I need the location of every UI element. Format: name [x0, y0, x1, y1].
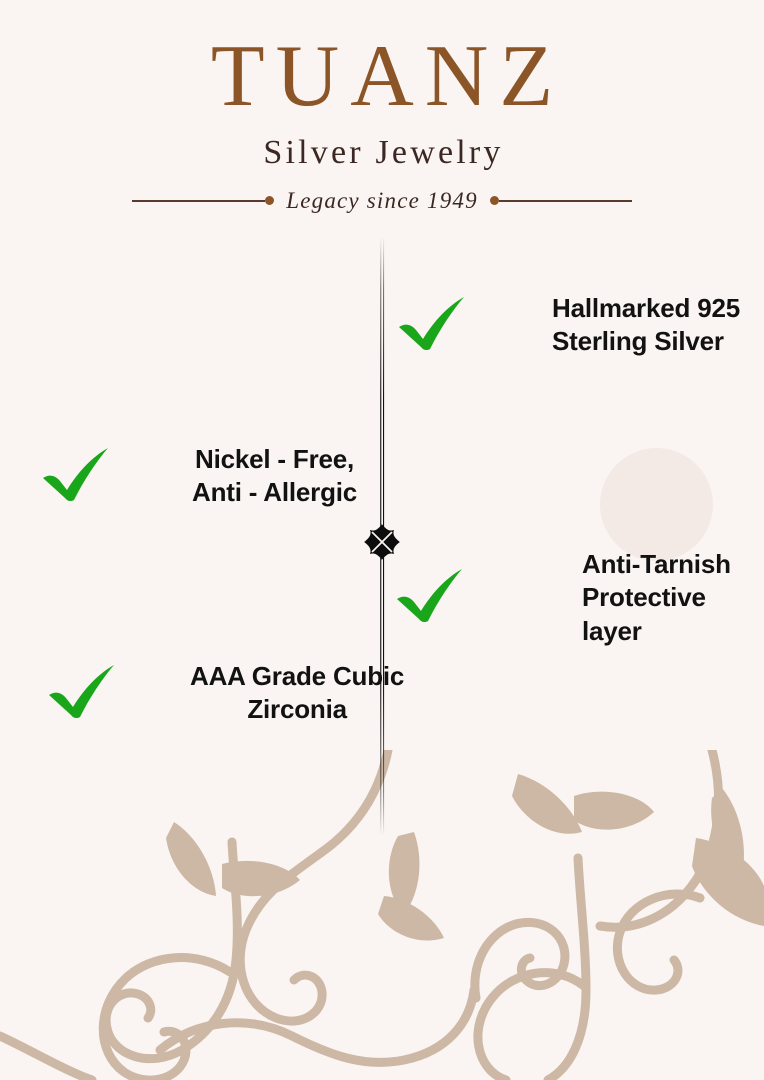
feature-item-aaa-grade-cubic-zirconia: AAA Grade Cubic Zirconia	[46, 660, 404, 727]
feature-label: Hallmarked 925 Sterling Silver	[552, 292, 740, 359]
divider-line-upper	[380, 236, 384, 532]
feature-item-anti-tarnish-protective-layer: Anti-Tarnish Protective layer	[394, 548, 764, 648]
legacy-divider: Legacy since 1949	[0, 188, 764, 214]
poster-canvas: TUANZ Silver Jewelry Legacy since 1949	[0, 0, 764, 1080]
brand-tagline: Silver Jewelry	[0, 136, 764, 170]
brand-header: TUANZ Silver Jewelry Legacy since 1949	[0, 0, 764, 214]
floral-vine-ornament-icon	[0, 750, 764, 1080]
feature-label: Anti-Tarnish Protective layer	[582, 548, 764, 648]
legacy-rule-left	[132, 200, 265, 202]
legacy-text: Legacy since 1949	[274, 188, 490, 214]
green-check-icon	[396, 294, 468, 357]
feature-label: AAA Grade Cubic Zirconia	[190, 660, 404, 727]
legacy-dot-right-icon	[490, 196, 499, 205]
legacy-dot-left-icon	[265, 196, 274, 205]
feature-label: Nickel - Free, Anti - Allergic	[192, 443, 357, 510]
decorative-circle-icon	[600, 448, 713, 561]
brand-name: TUANZ	[0, 0, 764, 122]
green-check-icon	[46, 662, 118, 725]
feature-item-nickel-free-anti-allergic: Nickel - Free, Anti - Allergic	[40, 443, 357, 510]
green-check-icon	[40, 445, 112, 508]
legacy-rule-right	[499, 200, 632, 202]
green-check-icon	[394, 566, 466, 629]
feature-item-hallmarked-925-sterling-silver: Hallmarked 925 Sterling Silver	[396, 292, 740, 359]
